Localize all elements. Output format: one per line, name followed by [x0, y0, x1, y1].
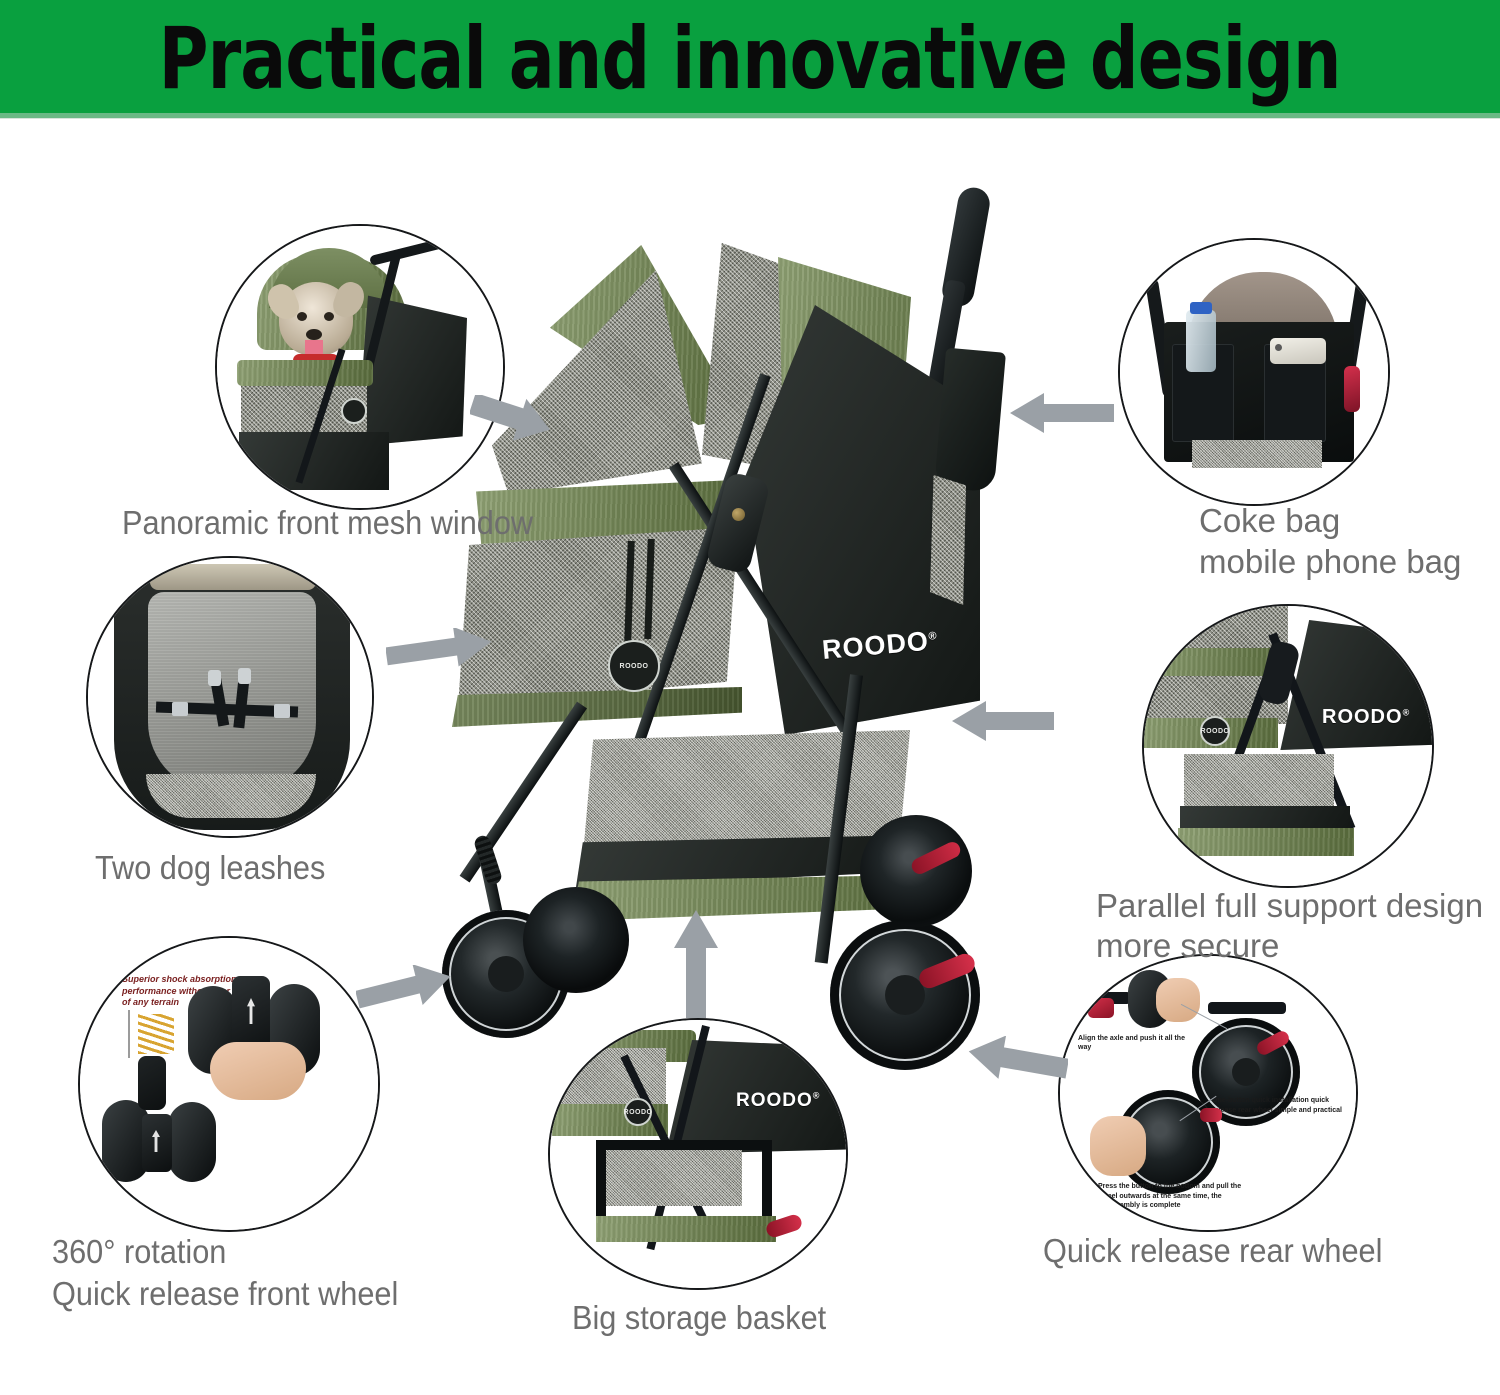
basket-logo-registered: ® — [813, 1091, 821, 1101]
product-feature-infographic: Practical and innovative design ROODO® — [0, 0, 1500, 1395]
callout-photo-rear-wheel-steps: Align the axle and push it all the way O… — [1060, 956, 1356, 1230]
wheel-pair-bottom-right-tire — [168, 1102, 216, 1182]
seat-cushion — [148, 592, 316, 792]
banner-bottom-edge — [0, 113, 1500, 119]
photo-logo-word: ROODO — [1322, 706, 1403, 728]
front-wheel-hub — [488, 956, 524, 992]
panoramic-front-mesh-window — [458, 527, 738, 707]
spring-bracket — [128, 1010, 138, 1058]
side-organizer-bag — [934, 348, 1006, 493]
callout-photo-front-wheel-assembly: Superior shock absorption performance wi… — [80, 938, 378, 1230]
photo-basket-black-wall — [596, 1140, 772, 1228]
strap-buckle-right — [274, 704, 290, 718]
page-title: Practical and innovative design — [159, 16, 1341, 102]
arrow-to-front-wheel — [356, 965, 452, 1011]
arrow-to-rear-wheel — [968, 1036, 1068, 1084]
hand-holding-wheel — [210, 1042, 306, 1100]
basket-badge-label: ROODO — [624, 1109, 653, 1116]
photo-badge-roodo: ROODO — [1200, 716, 1230, 746]
water-bottle — [1186, 310, 1216, 372]
photo-basket-bottom-green — [596, 1216, 776, 1242]
arrow-to-seat — [386, 628, 492, 670]
red-clip — [1344, 366, 1360, 412]
hand-step3 — [1090, 1116, 1146, 1176]
seat-front-mesh — [146, 774, 316, 818]
callout-photo-organizer-bag — [1120, 240, 1388, 504]
callout-quick-release-rear-wheel[interactable]: Align the axle and push it all the way O… — [1058, 954, 1358, 1232]
arrow-to-side-frame — [952, 700, 1054, 742]
wheel-step2-mount-bar — [1208, 1002, 1286, 1014]
arrow-to-canopy — [470, 395, 552, 445]
phone-camera-icon — [1275, 344, 1282, 351]
callout-photo-basket: ROODO® ROODO — [550, 1020, 846, 1288]
photo-basket-mesh — [1192, 440, 1322, 468]
leash-clip-left — [208, 670, 221, 686]
spring-illustration — [138, 1014, 174, 1054]
main-product-stroller: ROODO® ROODO — [430, 175, 1030, 1115]
align-axle-note: Align the axle and push it all the way — [1078, 1034, 1198, 1052]
callout-photo-seat-interior — [88, 558, 372, 836]
basket-logo-word: ROODO — [736, 1090, 813, 1111]
caption-parallel-full-support: Parallel full support design more secure — [1096, 886, 1500, 966]
photo-handle-top — [369, 236, 453, 266]
caption-panoramic-front-mesh-window: Panoramic front mesh window — [122, 503, 559, 542]
roodo-emblem-badge: ROODO — [608, 640, 660, 692]
caption-coke-bag: Coke bag mobile phone bag — [1199, 500, 1500, 582]
emblem-label: ROODO — [620, 663, 649, 670]
callout-two-dog-leashes[interactable] — [86, 556, 374, 838]
caption-two-dog-leashes: Two dog leashes — [95, 848, 374, 887]
photo-basket-logo: ROODO® — [736, 1090, 820, 1112]
callout-front-wheel-rotation[interactable]: Superior shock absorption performance wi… — [78, 936, 380, 1232]
leash-clip-right — [238, 668, 251, 684]
strap-buckle-left — [172, 702, 188, 716]
dog-eye-right — [324, 312, 334, 321]
arrow-to-basket — [672, 910, 720, 1018]
one-button-note: One-button quick installation quick rele… — [1212, 1096, 1344, 1115]
frame-hub-rivet — [732, 508, 745, 521]
photo-stroller-body-black — [357, 286, 467, 446]
hand-step1 — [1156, 978, 1200, 1022]
wheel-step2-hub — [1232, 1058, 1260, 1086]
water-bottle-cap — [1190, 302, 1212, 314]
detached-stem — [138, 1056, 166, 1110]
caption-big-storage-basket: Big storage basket — [572, 1298, 879, 1337]
callout-big-storage-basket[interactable]: ROODO® ROODO — [548, 1018, 848, 1290]
photo-logo-registered: ® — [1403, 707, 1411, 717]
callout-photo-side-frame: ROODO® ROODO — [1144, 606, 1432, 886]
callout-parallel-full-support[interactable]: ROODO® ROODO — [1142, 604, 1434, 888]
press-button-note: Press the button to the bottom and pull … — [1098, 1182, 1258, 1211]
photo-badge — [341, 398, 367, 424]
photo-window-frame-green — [237, 360, 373, 386]
dog-nose — [306, 329, 322, 340]
axle-red-knob — [1088, 998, 1114, 1018]
photo-badge-label: ROODO — [1201, 728, 1230, 735]
canopy-edge-top — [150, 564, 316, 590]
header-banner: Practical and innovative design — [0, 0, 1500, 118]
wheel-step3-red-button — [1200, 1108, 1222, 1122]
photo-logo-roodo: ROODO® — [1322, 706, 1410, 729]
photo-basket-green — [1178, 828, 1354, 856]
photo-basket-badge: ROODO — [624, 1098, 652, 1126]
caption-quick-release-rear-wheel: Quick release rear wheel — [1043, 1231, 1406, 1270]
front-wheel-twin — [523, 887, 629, 993]
caption-front-wheel-rotation: 360° rotation Quick release front wheel — [52, 1231, 443, 1315]
callout-panoramic-front-mesh-window[interactable] — [215, 224, 505, 510]
arrow-to-bag — [1010, 392, 1114, 434]
callout-photo-dog-in-stroller — [217, 226, 503, 508]
callout-coke-bag[interactable] — [1118, 238, 1390, 506]
mobile-phone — [1270, 338, 1326, 364]
logo-registered: ® — [928, 630, 938, 643]
rear-mesh-strip — [930, 475, 966, 605]
dog-eye-left — [297, 312, 307, 321]
